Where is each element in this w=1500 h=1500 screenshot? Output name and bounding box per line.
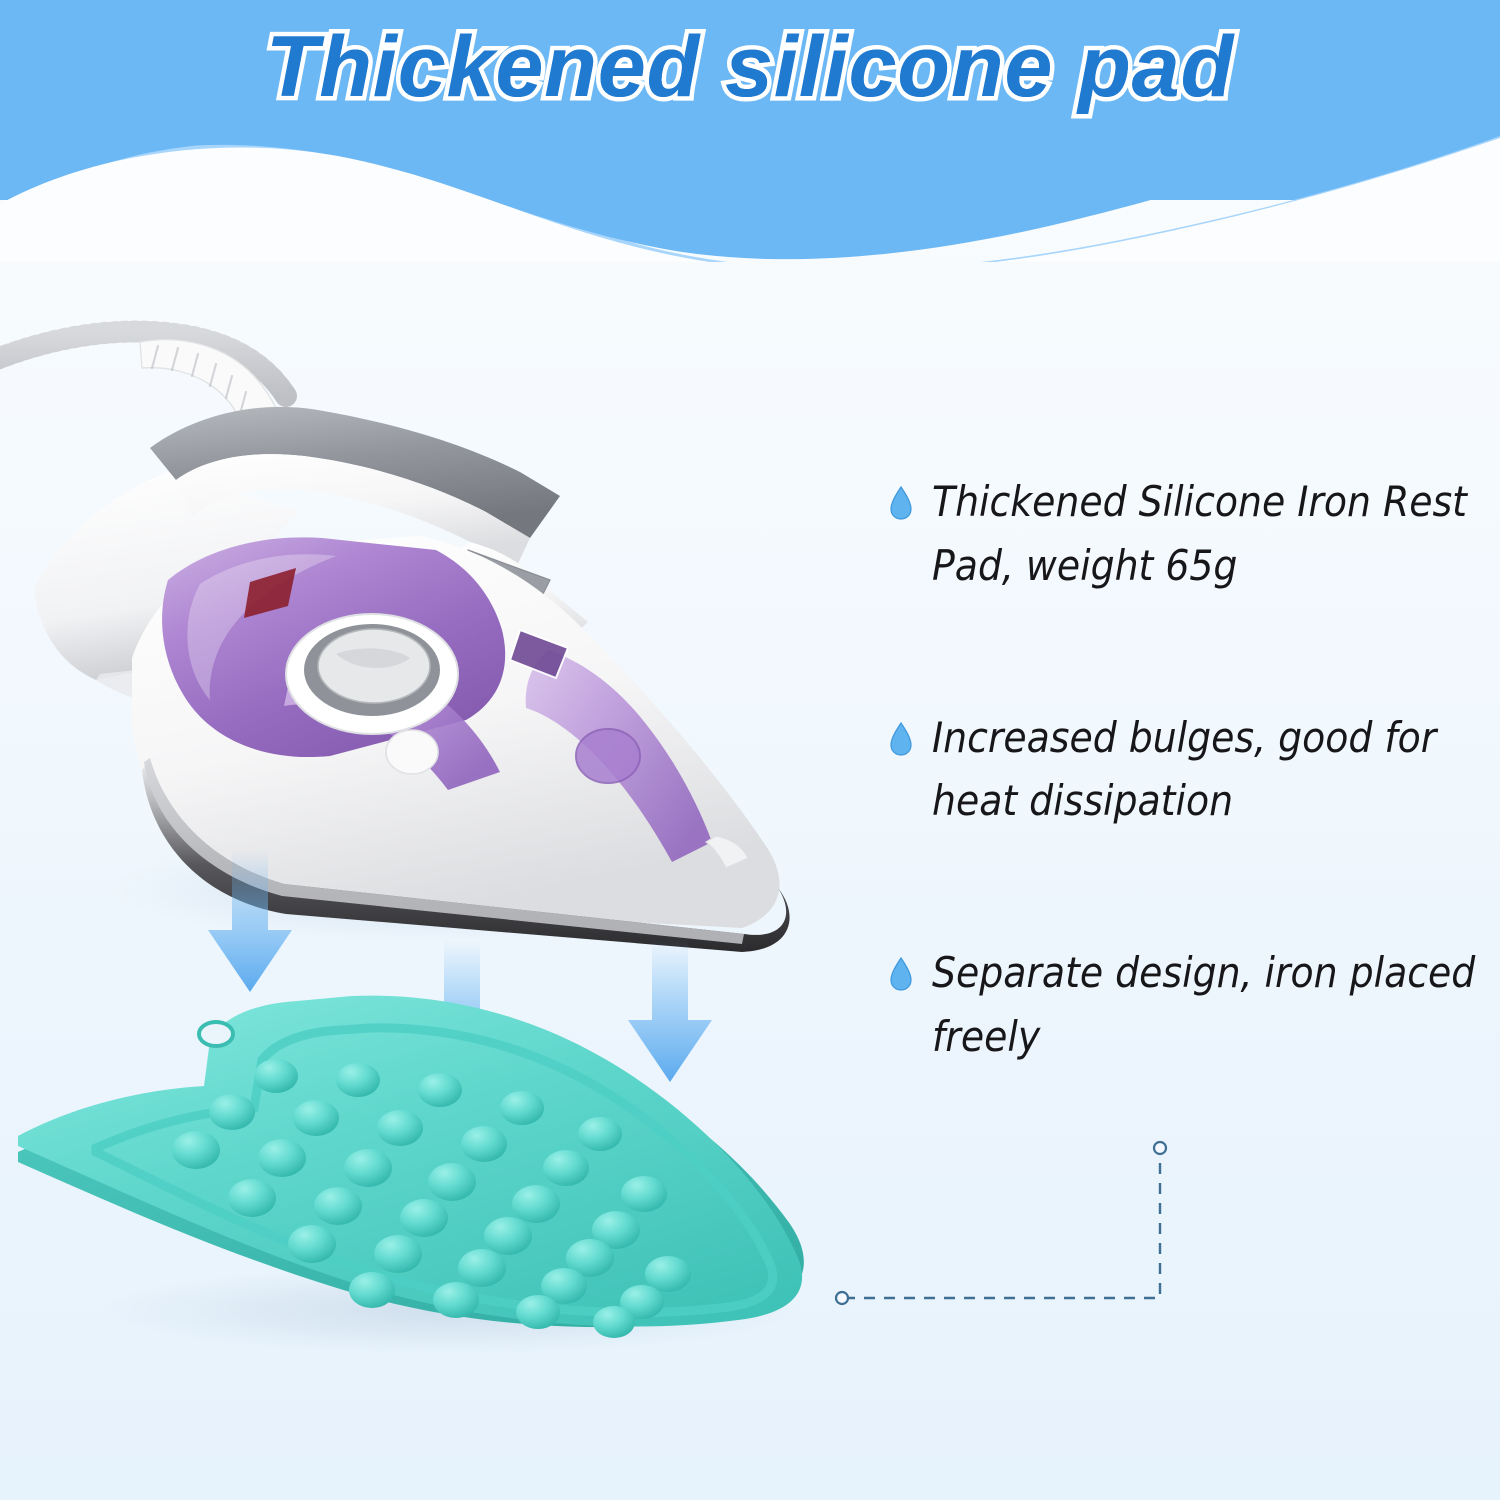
water-drop-icon xyxy=(890,722,912,761)
water-drop-icon xyxy=(890,486,912,525)
feature-list: Thickened Silicone Iron Rest Pad, weight… xyxy=(890,470,1490,1177)
callout-endpoint-end xyxy=(1154,1142,1166,1154)
callout-endpoint-start xyxy=(836,1292,848,1304)
callout-dashed-line xyxy=(844,1150,1160,1298)
feature-item-1: Thickened Silicone Iron Rest Pad, weight… xyxy=(890,470,1490,598)
nose-window-cap xyxy=(576,729,640,783)
product-scene-svg xyxy=(0,250,900,1500)
iron-spray-button[interactable] xyxy=(386,730,438,774)
feature-text-3: Separate design, iron placed freely xyxy=(932,941,1477,1069)
feature-item-3: Separate design, iron placed freely xyxy=(890,941,1490,1069)
dimension-callout xyxy=(820,1120,1240,1325)
arrow-down-3 xyxy=(628,940,712,1082)
water-drop-icon xyxy=(890,957,912,996)
product-illustration xyxy=(0,250,900,1500)
callout-svg xyxy=(820,1120,1240,1320)
page-title: Thickened silicone pad xyxy=(0,18,1500,117)
feature-item-2: Increased bulges, good for heat dissipat… xyxy=(890,706,1490,834)
iron-control-dial[interactable] xyxy=(286,614,458,734)
feature-text-2: Increased bulges, good for heat dissipat… xyxy=(932,706,1477,834)
product-infographic-page: Thickened silicone pad Thickened silicon… xyxy=(0,0,1500,1500)
pad-hanging-hole xyxy=(199,1022,233,1046)
feature-text-1: Thickened Silicone Iron Rest Pad, weight… xyxy=(932,470,1477,598)
header-banner: Thickened silicone pad Thickened silicon… xyxy=(0,0,1500,260)
